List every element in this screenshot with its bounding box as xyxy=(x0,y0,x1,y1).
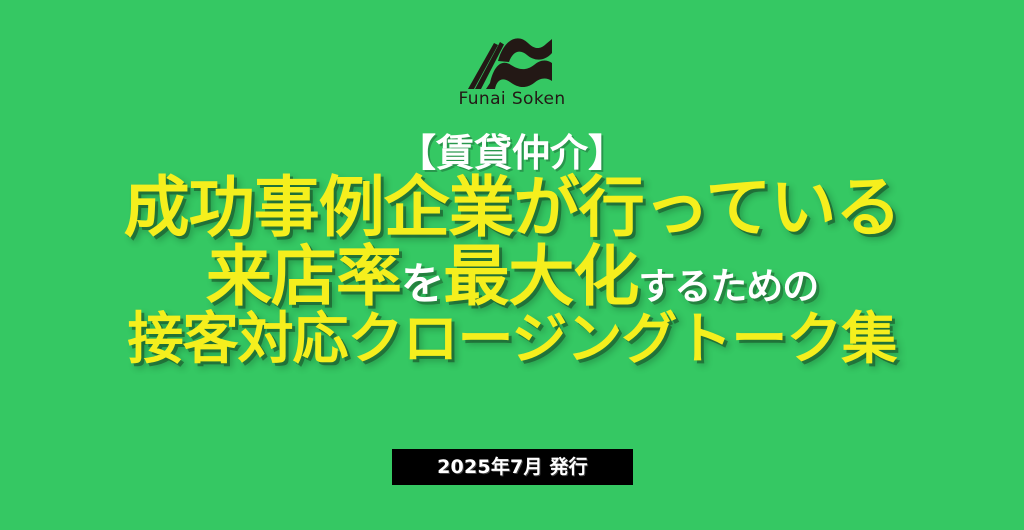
headline-line-2: 来店率を最大化するための xyxy=(0,245,1024,310)
headline-line-2-part-1: 来店率 xyxy=(206,238,401,315)
headline-line-2-part-2: を xyxy=(401,260,444,310)
logo-block: Funai Soken xyxy=(0,31,1024,108)
category-tag: 【賃貸仲介】 xyxy=(0,134,1024,172)
headline-block: 成功事例企業が行っている 来店率を最大化するための 接客対応クロージングトーク集 xyxy=(0,176,1024,368)
logo-wordmark: Funai Soken xyxy=(458,91,565,108)
headline-line-2-part-4: するための xyxy=(638,265,818,308)
funai-soken-flag-logo xyxy=(464,31,560,89)
headline-line-2-part-3: 最大化 xyxy=(443,238,638,315)
date-badge-label: 2025年7月 発行 xyxy=(437,458,588,477)
headline-line-3: 接客対応クロージングトーク集 xyxy=(0,313,1024,368)
date-badge: 2025年7月 発行 xyxy=(392,449,633,485)
slide-canvas: Funai Soken 【賃貸仲介】 成功事例企業が行っている 来店率を最大化す… xyxy=(0,0,1024,530)
headline-line-1: 成功事例企業が行っている xyxy=(0,176,1024,241)
